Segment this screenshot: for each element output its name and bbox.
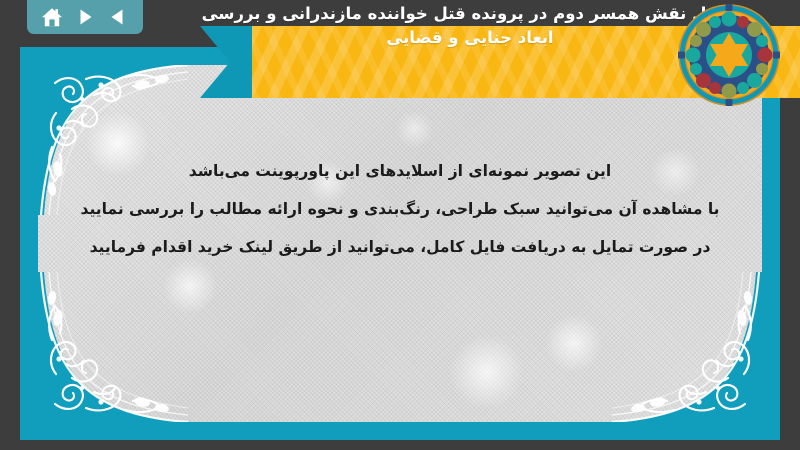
slide-body-text: این تصویر نمونه‌ای از اسلایدهای این پاور… <box>78 153 722 267</box>
slide-viewer: تحلیل نقش همسر دوم در پرونده قتل خواننده… <box>0 0 800 450</box>
body-line-2: با مشاهده آن می‌توانید سبک طراحی، رنگ‌بن… <box>78 191 722 229</box>
slide-canvas[interactable]: این تصویر نمونه‌ای از اسلایدهای این پاور… <box>20 47 780 440</box>
body-line-3: در صورت تمایل به دریافت فایل کامل، می‌تو… <box>78 229 722 267</box>
ornament-corner-bottom-left-icon <box>38 272 188 422</box>
next-slide-button[interactable] <box>72 5 98 29</box>
slide-content-area: این تصویر نمونه‌ای از اسلایدهای این پاور… <box>38 65 762 422</box>
previous-slide-button[interactable] <box>105 5 131 29</box>
triangle-right-icon <box>75 7 95 27</box>
ornamental-medallion-icon <box>677 3 781 107</box>
body-line-1: این تصویر نمونه‌ای از اسلایدهای این پاور… <box>78 153 722 191</box>
slide-navigation-bar <box>27 0 143 34</box>
banner-ribbon-tail <box>200 26 254 98</box>
home-icon <box>41 7 63 28</box>
home-button[interactable] <box>39 5 65 29</box>
ornament-corner-bottom-right-icon <box>612 272 762 422</box>
triangle-left-icon <box>108 7 128 27</box>
